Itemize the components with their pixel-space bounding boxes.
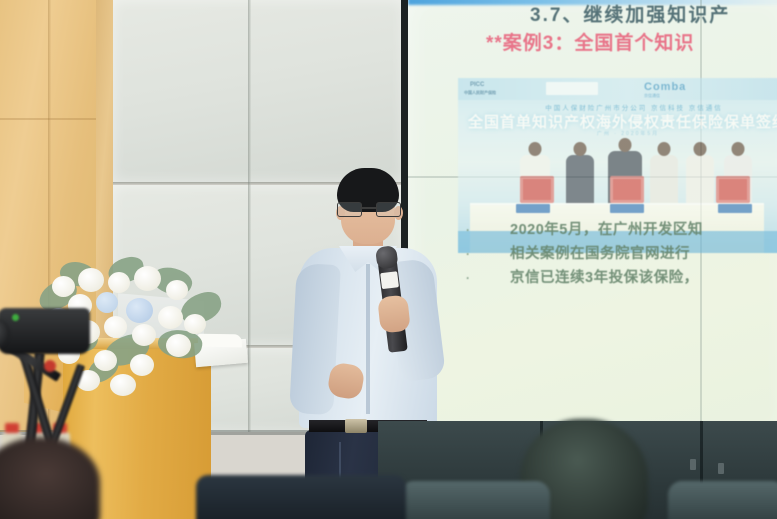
camera-red-knob (44, 360, 56, 372)
list-item: · 京信已连续3年投保该保险， (466, 266, 777, 287)
banner-header-strip (458, 78, 777, 100)
certificate-folder (610, 176, 644, 203)
white-rose (52, 276, 75, 297)
camera-indicator-light (12, 314, 19, 321)
microphone-label (380, 271, 399, 289)
slide-bullet-list: · 2020年5月，在广州开发区知 · 相关案例在国务院官网进行 · 京信已连续… (466, 218, 777, 290)
list-item: · 2020年5月，在广州开发区知 (466, 218, 777, 239)
participant-head (732, 142, 745, 156)
chair-back (668, 481, 777, 519)
white-rose (166, 334, 191, 357)
participant-head (529, 142, 542, 156)
white-rose (166, 280, 188, 300)
banner-white-placeholder (546, 82, 598, 95)
banner-headline: 全国首单知识产权海外侵权责任保险保单签约 (458, 111, 777, 132)
comba-logo-text: Comba (644, 81, 686, 93)
chair-back (196, 475, 406, 519)
participant-head (658, 142, 671, 156)
glasses-right-lens (376, 202, 401, 217)
audience-member-head (0, 437, 100, 519)
wall-acoustic-panel (113, 0, 403, 182)
participant-head (574, 142, 587, 156)
presentation-photo: 3.7、继续加强知识产 **案例3：全国首个知识 PICC 中国人民财产保险 C… (0, 0, 777, 519)
white-rose (78, 268, 104, 292)
door-latch (718, 463, 724, 474)
table-name-card (718, 204, 752, 213)
bullet-text: 京信已连续3年投保该保险， (510, 266, 699, 287)
banner-dateline: 广州 · 2020年5月 (458, 130, 777, 137)
picc-logo: PICC (470, 82, 484, 88)
speaker-hand-holding-mic (377, 295, 411, 334)
bullet-marker: · (466, 223, 510, 237)
participant-head (619, 138, 632, 152)
bullet-text: 2020年5月，在广州开发区知 (510, 218, 703, 239)
projection-screen: 3.7、继续加强知识产 **案例3：全国首个知识 PICC 中国人民财产保险 C… (401, 0, 777, 438)
table-name-card (516, 204, 550, 213)
slide-title: 3.7、继续加强知识产 (530, 0, 777, 27)
microphone-head (375, 245, 399, 269)
comba-logo-subtext: 京信通信 (644, 93, 686, 99)
list-item: · 相关案例在国务院官网进行 (466, 242, 777, 263)
slide-subtitle: **案例3：全国首个知识 (486, 28, 777, 55)
certificate-folder (716, 176, 750, 203)
bullet-text: 相关案例在国务院官网进行 (510, 242, 690, 263)
chair-back (400, 481, 550, 519)
certificate-folder (520, 176, 554, 203)
panel-seam (248, 0, 251, 432)
door-latch (690, 459, 696, 470)
white-rose (184, 314, 206, 334)
participant-head (694, 142, 707, 156)
foreground-audience-row (0, 421, 777, 519)
glasses-icon (337, 202, 399, 215)
shirt-placket (366, 264, 370, 414)
glasses-bridge (360, 207, 376, 209)
table-name-card (610, 204, 644, 213)
white-rose (134, 266, 161, 291)
white-rose (108, 272, 130, 293)
comba-logo: Comba 京信通信 (644, 81, 686, 99)
picc-logo-subtext: 中国人民财产保险 (464, 90, 496, 96)
bullet-marker: · (466, 271, 510, 285)
bullet-marker: · (466, 247, 510, 261)
glasses-left-lens (337, 202, 362, 217)
